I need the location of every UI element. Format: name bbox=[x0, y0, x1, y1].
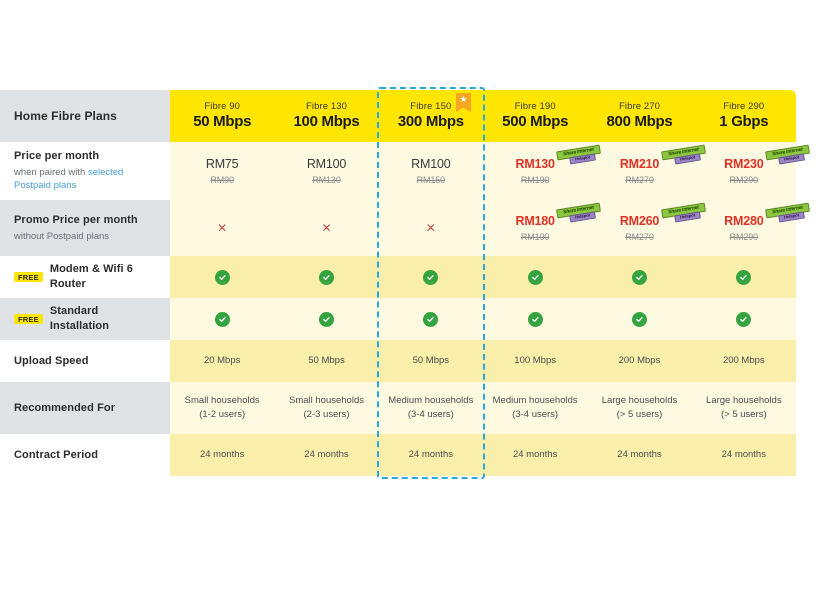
fibre-plans-comparison-table: Home Fibre Plans Fibre 9050 MbpsFibre 13… bbox=[0, 90, 796, 476]
modem-cell bbox=[587, 256, 691, 298]
sticker-bottom-label: Hotspot bbox=[778, 153, 805, 164]
price-cell: RM130RM190Share InternetHotspot bbox=[483, 142, 587, 200]
plan-name: Fibre 190 bbox=[515, 101, 556, 112]
table-header-row: Home Fibre Plans Fibre 9050 MbpsFibre 13… bbox=[0, 90, 796, 142]
row-label-contract-title: Contract Period bbox=[14, 448, 156, 463]
contract-cells: 24 months24 months24 months24 months24 m… bbox=[170, 434, 796, 476]
row-price-per-month: Price per month when paired with selecte… bbox=[0, 142, 796, 200]
page-title: Home Fibre Plans bbox=[14, 108, 156, 124]
price-original: RM290 bbox=[730, 232, 759, 242]
contract-cell: 24 months bbox=[692, 434, 796, 476]
plan-header-fibre-290[interactable]: Fibre 2901 Gbps bbox=[692, 90, 796, 142]
price-current: RM100 bbox=[307, 157, 346, 173]
header-label-cell: Home Fibre Plans bbox=[0, 90, 170, 142]
check-circle-icon bbox=[423, 270, 438, 285]
price-original: RM270 bbox=[625, 232, 654, 242]
price-current: RM75 bbox=[206, 157, 239, 173]
installation-cell bbox=[274, 298, 378, 340]
upload-value: 200 Mbps bbox=[619, 354, 661, 368]
row-label-recommended-title: Recommended For bbox=[14, 401, 156, 416]
contract-cell: 24 months bbox=[587, 434, 691, 476]
installation-cells bbox=[170, 298, 796, 340]
plan-header-fibre-90[interactable]: Fibre 9050 Mbps bbox=[170, 90, 274, 142]
check-circle-icon bbox=[736, 312, 751, 327]
row-label-contract: Contract Period bbox=[0, 434, 170, 476]
price-original: RM90 bbox=[210, 175, 234, 185]
check-circle-icon bbox=[632, 270, 647, 285]
price-original: RM130 bbox=[312, 175, 341, 185]
recommended-line2: (1-2 users) bbox=[199, 408, 245, 422]
price-cell: RM210RM270Share InternetHotspot bbox=[587, 142, 691, 200]
contract-cell: 24 months bbox=[379, 434, 483, 476]
price-current: RM210 bbox=[620, 157, 659, 173]
price-original: RM190 bbox=[521, 232, 550, 242]
recommended-line2: (3-4 users) bbox=[512, 408, 558, 422]
row-label-installation-title: Standard Installation bbox=[50, 304, 156, 334]
plan-name: Fibre 90 bbox=[204, 101, 240, 112]
row-label-modem-title: Modem & Wifi 6 Router bbox=[50, 262, 156, 292]
contract-cell: 24 months bbox=[170, 434, 274, 476]
recommended-line2: (3-4 users) bbox=[408, 408, 454, 422]
row-label-installation: FREE Standard Installation bbox=[0, 298, 170, 340]
price-current: RM260 bbox=[620, 214, 659, 230]
modem-cell bbox=[170, 256, 274, 298]
price-current: RM100 bbox=[411, 157, 450, 173]
price-cell: RM75RM90 bbox=[170, 142, 274, 200]
recommended-cell: Large households(> 5 users) bbox=[587, 382, 691, 434]
contract-value: 24 months bbox=[200, 448, 244, 462]
plan-speed: 800 Mbps bbox=[606, 114, 672, 131]
row-label-upload: Upload Speed bbox=[0, 340, 170, 382]
plan-header-fibre-130[interactable]: Fibre 130100 Mbps bbox=[274, 90, 378, 142]
price-current: RM180 bbox=[516, 214, 555, 230]
modem-cell bbox=[483, 256, 587, 298]
check-circle-icon bbox=[215, 270, 230, 285]
plan-speed: 300 Mbps bbox=[398, 114, 464, 131]
plan-header-fibre-270[interactable]: Fibre 270800 Mbps bbox=[587, 90, 691, 142]
plan-name: Fibre 130 bbox=[306, 101, 347, 112]
recommended-line1: Large households bbox=[706, 394, 782, 408]
plan-speed: 1 Gbps bbox=[719, 114, 768, 131]
installation-cell bbox=[692, 298, 796, 340]
plan-header-fibre-190[interactable]: Fibre 190500 Mbps bbox=[483, 90, 587, 142]
row-label-upload-title: Upload Speed bbox=[14, 354, 156, 369]
promo-cell: ✕ bbox=[170, 200, 274, 256]
row-label-recommended: Recommended For bbox=[0, 382, 170, 434]
price-current: RM230 bbox=[724, 157, 763, 173]
plan-header-cells: Fibre 9050 MbpsFibre 130100 MbpsFibre 15… bbox=[170, 90, 796, 142]
upload-value: 50 Mbps bbox=[413, 354, 449, 368]
promo-cell: RM180RM190Share InternetHotspot bbox=[483, 200, 587, 256]
row-recommended-for: Recommended For Small households(1-2 use… bbox=[0, 382, 796, 434]
modem-cell bbox=[379, 256, 483, 298]
promo-cells: ✕✕✕RM180RM190Share InternetHotspotRM260R… bbox=[170, 200, 796, 256]
price-cells: RM75RM90RM100RM130RM100RM150RM130RM190Sh… bbox=[170, 142, 796, 200]
installation-cell bbox=[587, 298, 691, 340]
free-badge-modem: FREE bbox=[14, 272, 43, 283]
price-original: RM190 bbox=[521, 175, 550, 185]
row-label-promo-title: Promo Price per month bbox=[14, 213, 156, 228]
check-circle-icon bbox=[528, 270, 543, 285]
row-standard-installation: FREE Standard Installation bbox=[0, 298, 796, 340]
sticker-top-label: Share Internet bbox=[765, 145, 810, 161]
price-sub-prefix: when paired with bbox=[14, 167, 88, 178]
promo-cell: ✕ bbox=[274, 200, 378, 256]
check-circle-icon bbox=[423, 312, 438, 327]
plan-comparison-page: Home Fibre Plans Fibre 9050 MbpsFibre 13… bbox=[0, 0, 832, 608]
modem-cell bbox=[274, 256, 378, 298]
cross-icon: ✕ bbox=[321, 222, 331, 234]
row-modem-router: FREE Modem & Wifi 6 Router bbox=[0, 256, 796, 298]
upload-value: 100 Mbps bbox=[514, 354, 556, 368]
cross-icon: ✕ bbox=[217, 222, 227, 234]
row-promo-price: Promo Price per month without Postpaid p… bbox=[0, 200, 796, 256]
price-current: RM280 bbox=[724, 214, 763, 230]
plan-name: Fibre 290 bbox=[723, 101, 764, 112]
upload-cell: 20 Mbps bbox=[170, 340, 274, 382]
upload-cell: 200 Mbps bbox=[692, 340, 796, 382]
contract-value: 24 months bbox=[722, 448, 766, 462]
cross-icon: ✕ bbox=[426, 222, 436, 234]
plan-name: Fibre 150 bbox=[410, 101, 451, 112]
promo-cell: ✕ bbox=[379, 200, 483, 256]
upload-value: 20 Mbps bbox=[204, 354, 240, 368]
contract-cell: 24 months bbox=[483, 434, 587, 476]
contract-value: 24 months bbox=[513, 448, 557, 462]
recommended-line2: (> 5 users) bbox=[617, 408, 663, 422]
recommended-cell: Medium households(3-4 users) bbox=[379, 382, 483, 434]
upload-cell: 100 Mbps bbox=[483, 340, 587, 382]
row-label-promo: Promo Price per month without Postpaid p… bbox=[0, 200, 170, 256]
price-original: RM290 bbox=[730, 175, 759, 185]
recommended-line2: (2-3 users) bbox=[304, 408, 350, 422]
upload-cells: 20 Mbps50 Mbps50 Mbps100 Mbps200 Mbps200… bbox=[170, 340, 796, 382]
plan-speed: 100 Mbps bbox=[294, 114, 360, 131]
promo-cell: RM280RM290Share InternetHotspot bbox=[692, 200, 796, 256]
free-badge-installation: FREE bbox=[14, 314, 43, 325]
upload-cell: 200 Mbps bbox=[587, 340, 691, 382]
plan-speed: 500 Mbps bbox=[502, 114, 568, 131]
check-circle-icon bbox=[632, 312, 647, 327]
recommended-line1: Small households bbox=[289, 394, 364, 408]
sticker-bottom-label: Hotspot bbox=[778, 211, 805, 222]
price-original: RM270 bbox=[625, 175, 654, 185]
contract-value: 24 months bbox=[409, 448, 453, 462]
plan-speed: 50 Mbps bbox=[193, 114, 251, 131]
check-circle-icon bbox=[319, 312, 334, 327]
star-glyph: ★ bbox=[459, 95, 467, 104]
modem-cell bbox=[692, 256, 796, 298]
check-circle-icon bbox=[319, 270, 334, 285]
upload-cell: 50 Mbps bbox=[274, 340, 378, 382]
contract-value: 24 months bbox=[617, 448, 661, 462]
upload-cell: 50 Mbps bbox=[379, 340, 483, 382]
star-ribbon-icon: ★ bbox=[456, 93, 471, 112]
check-circle-icon bbox=[215, 312, 230, 327]
recommended-cells: Small households(1-2 users)Small househo… bbox=[170, 382, 796, 434]
recommended-cell: Medium households(3-4 users) bbox=[483, 382, 587, 434]
recommended-line1: Large households bbox=[602, 394, 678, 408]
plan-name: Fibre 270 bbox=[619, 101, 660, 112]
price-cell: RM100RM130 bbox=[274, 142, 378, 200]
promo-cell: RM260RM270Share InternetHotspot bbox=[587, 200, 691, 256]
row-label-promo-sub: without Postpaid plans bbox=[14, 230, 156, 244]
sticker-top-label: Share Internet bbox=[765, 203, 810, 219]
upload-value: 200 Mbps bbox=[723, 354, 765, 368]
row-label-price-sub: when paired with selected Postpaid plans bbox=[14, 166, 156, 194]
recommended-line1: Small households bbox=[185, 394, 260, 408]
plan-header-fibre-150[interactable]: Fibre 150300 Mbps★ bbox=[379, 90, 483, 142]
recommended-line1: Medium households bbox=[493, 394, 578, 408]
price-cell: RM230RM290Share InternetHotspot bbox=[692, 142, 796, 200]
row-upload-speed: Upload Speed 20 Mbps50 Mbps50 Mbps100 Mb… bbox=[0, 340, 796, 382]
row-label-price: Price per month when paired with selecte… bbox=[0, 142, 170, 200]
installation-cell bbox=[379, 298, 483, 340]
recommended-cell: Small households(1-2 users) bbox=[170, 382, 274, 434]
price-cell: RM100RM150 bbox=[379, 142, 483, 200]
installation-cell bbox=[483, 298, 587, 340]
row-label-price-title: Price per month bbox=[14, 149, 156, 164]
recommended-line1: Medium households bbox=[388, 394, 473, 408]
contract-cell: 24 months bbox=[274, 434, 378, 476]
recommended-line2: (> 5 users) bbox=[721, 408, 767, 422]
contract-value: 24 months bbox=[304, 448, 348, 462]
installation-cell bbox=[170, 298, 274, 340]
share-internet-sticker-icon: Share InternetHotspot bbox=[765, 203, 811, 225]
row-contract-period: Contract Period 24 months24 months24 mon… bbox=[0, 434, 796, 476]
recommended-cell: Large households(> 5 users) bbox=[692, 382, 796, 434]
check-circle-icon bbox=[528, 312, 543, 327]
modem-cells bbox=[170, 256, 796, 298]
price-current: RM130 bbox=[516, 157, 555, 173]
row-label-modem: FREE Modem & Wifi 6 Router bbox=[0, 256, 170, 298]
check-circle-icon bbox=[736, 270, 751, 285]
recommended-cell: Small households(2-3 users) bbox=[274, 382, 378, 434]
upload-value: 50 Mbps bbox=[308, 354, 344, 368]
price-original: RM150 bbox=[417, 175, 446, 185]
share-internet-sticker-icon: Share InternetHotspot bbox=[765, 145, 811, 167]
